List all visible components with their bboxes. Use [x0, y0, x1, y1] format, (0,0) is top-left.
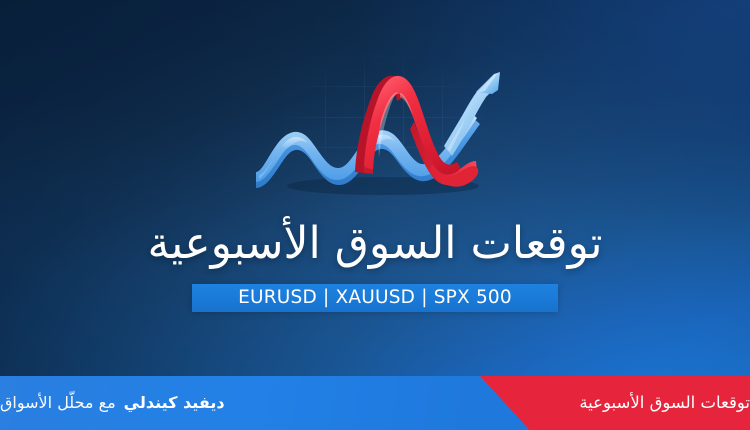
analyst-credit: ديفيد كيندلي مع محلّل الأسواق	[0, 376, 465, 430]
market-forecast-poster: توقعات السوق الأسبوعية EURUSD | XAUUSD |…	[0, 0, 750, 430]
page-title: توقعات السوق الأسبوعية	[0, 212, 750, 276]
analyst-credit-label: مع محلّل الأسواق	[0, 395, 116, 411]
footer-bar: ديفيد كيندلي مع محلّل الأسواق توقعات الس…	[0, 376, 750, 430]
footer-red-label: توقعات السوق الأسبوعية	[480, 376, 750, 430]
analyst-name: ديفيد كيندلي	[124, 395, 225, 411]
symbols-badge: EURUSD | XAUUSD | SPX 500	[192, 284, 558, 312]
3d-market-chart-graphic	[248, 46, 510, 194]
